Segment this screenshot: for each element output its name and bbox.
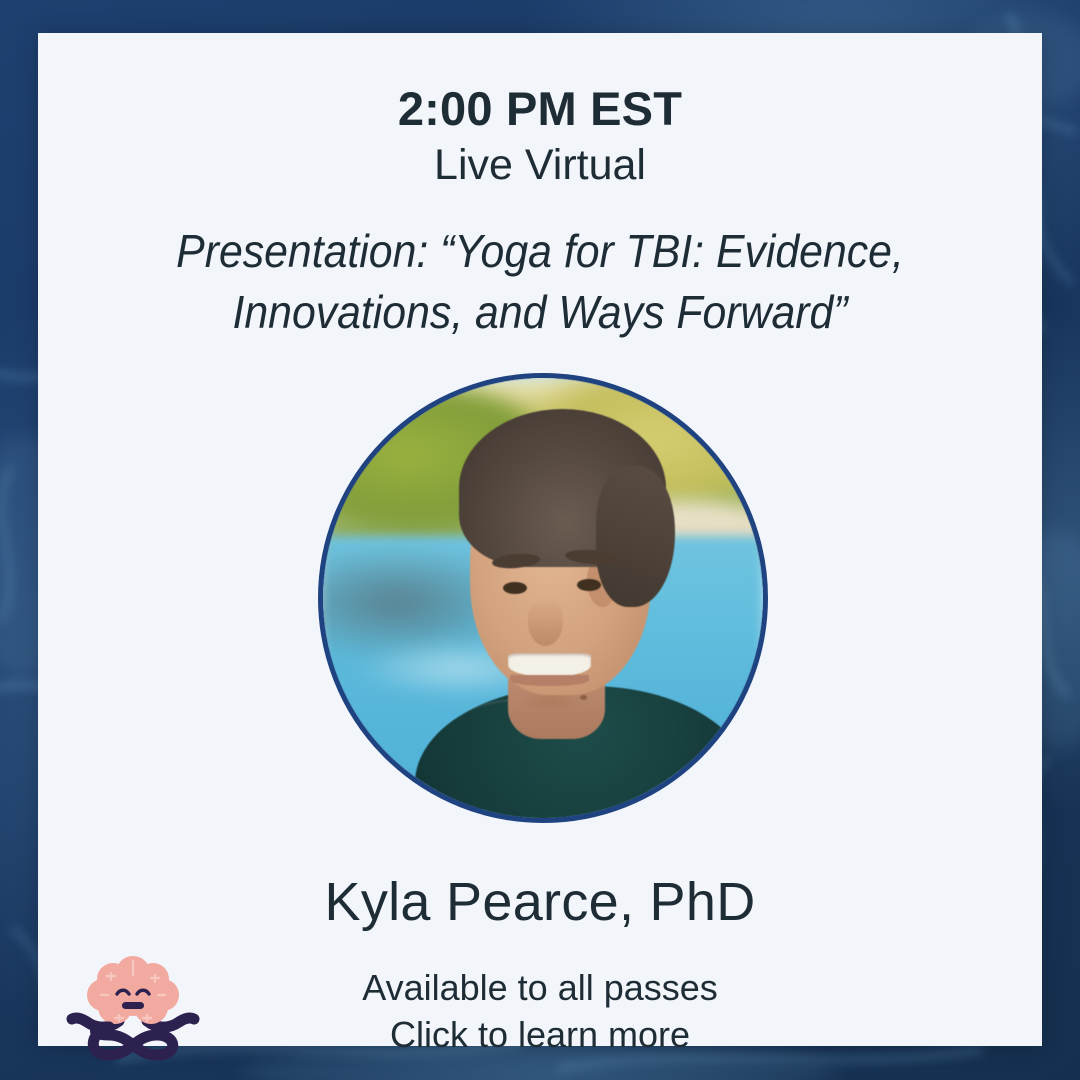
- session-format: Live Virtual: [38, 141, 1042, 189]
- meditating-brain-logo[interactable]: [65, 945, 201, 1063]
- speaker-portrait: [318, 373, 768, 823]
- speaker-name: Kyla Pearce, PhD: [38, 871, 1042, 933]
- content-card: 2:00 PM EST Live Virtual Presentation: “…: [38, 33, 1042, 1046]
- photo-person-nose: [528, 598, 563, 646]
- speaker-photo: [323, 378, 763, 818]
- photo-person-eye-right: [577, 579, 601, 591]
- presentation-title: Presentation: “Yoga for TBI: Evidence, I…: [131, 221, 949, 342]
- photo-person-lower-lip: [510, 675, 589, 686]
- session-header: 2:00 PM EST Live Virtual: [38, 84, 1042, 189]
- photo-person-chin-shadow: [517, 695, 583, 713]
- session-time: 2:00 PM EST: [38, 84, 1042, 135]
- event-promo-poster: 2:00 PM EST Live Virtual Presentation: “…: [0, 0, 1080, 1080]
- photo-person-smile: [508, 653, 592, 677]
